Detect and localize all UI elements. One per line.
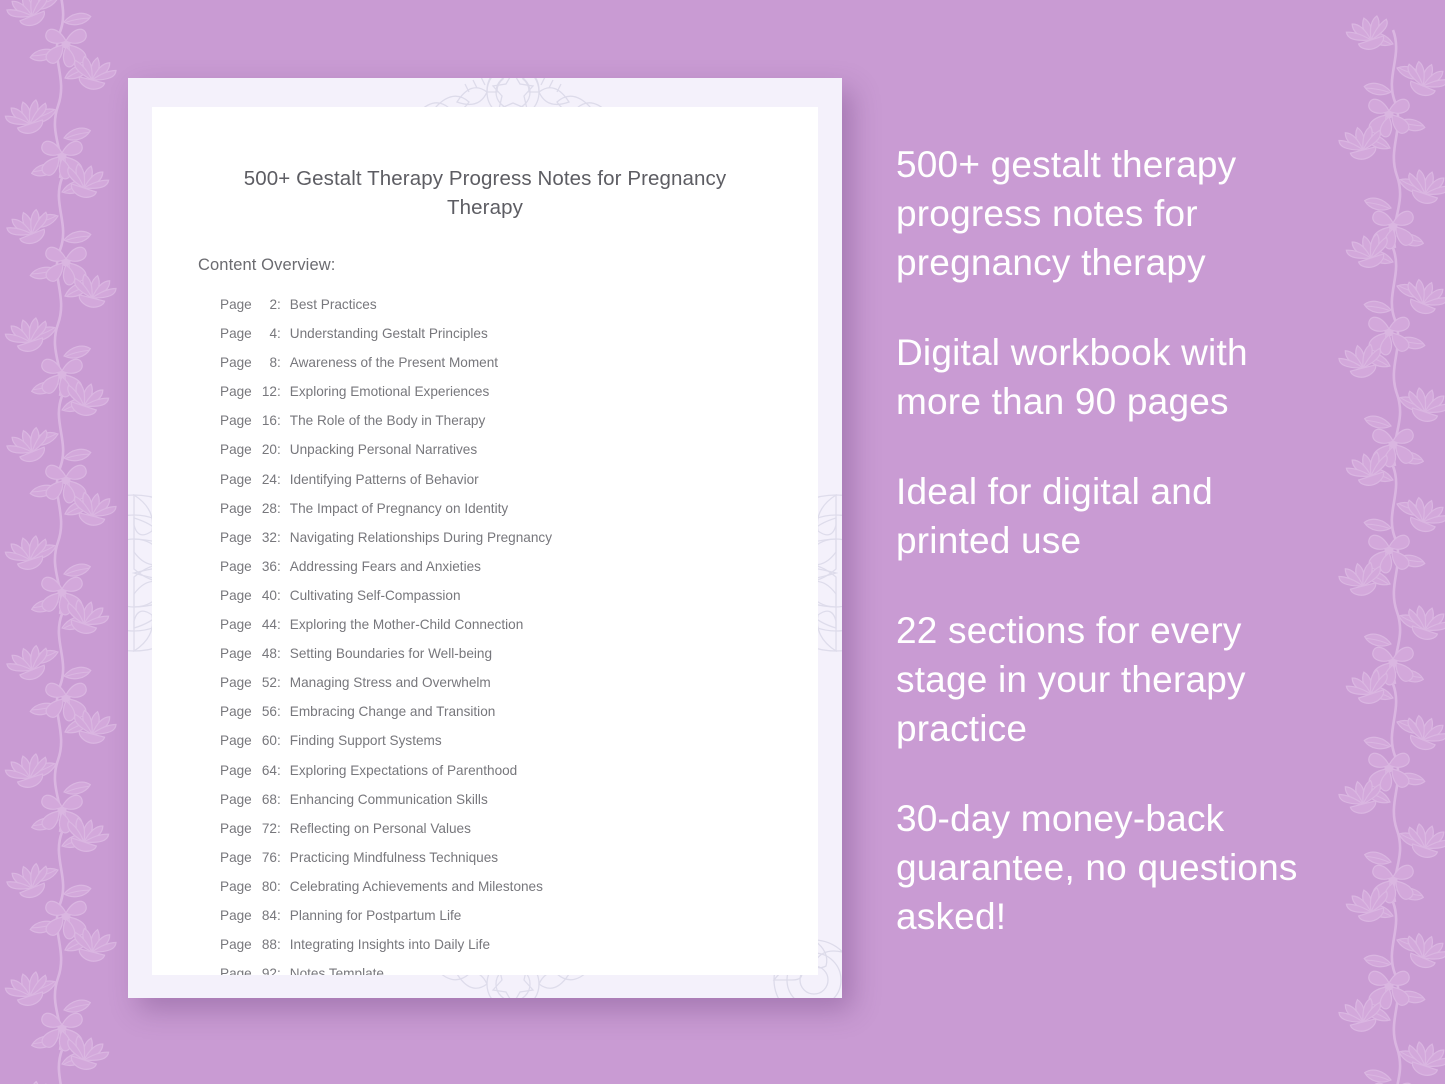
- toc-page-word: Page: [220, 668, 256, 697]
- toc-entry-title: Unpacking Personal Narratives: [290, 435, 477, 464]
- toc-entry-title: Managing Stress and Overwhelm: [290, 668, 491, 697]
- marketing-copy: 500+ gestalt therapy progress notes for …: [896, 140, 1326, 941]
- toc-entry-title: Understanding Gestalt Principles: [290, 319, 488, 348]
- toc-page-word: Page: [220, 930, 256, 959]
- toc-entry-title: Awareness of the Present Moment: [290, 348, 498, 377]
- toc-page-word: Page: [220, 435, 256, 464]
- toc-page-number: 88: [256, 930, 277, 959]
- toc-page-number: 20: [256, 435, 277, 464]
- toc-entry-title: Navigating Relationships During Pregnanc…: [290, 523, 552, 552]
- toc-page-word: Page: [220, 377, 256, 406]
- toc-colon: :: [277, 348, 290, 377]
- toc-page-word: Page: [220, 843, 256, 872]
- toc-entry-title: Celebrating Achievements and Milestones: [290, 872, 543, 901]
- toc-page-word: Page: [220, 639, 256, 668]
- toc-page-number: 4: [256, 319, 277, 348]
- toc-entry: Page52:Managing Stress and Overwhelm: [220, 668, 818, 697]
- toc-page-word: Page: [220, 348, 256, 377]
- toc-colon: :: [277, 552, 290, 581]
- toc-colon: :: [277, 901, 290, 930]
- toc-entry: Page68:Enhancing Communication Skills: [220, 785, 818, 814]
- toc-colon: :: [277, 697, 290, 726]
- toc-page-word: Page: [220, 872, 256, 901]
- toc-entry: Page88:Integrating Insights into Daily L…: [220, 930, 818, 959]
- toc-entry: Page28:The Impact of Pregnancy on Identi…: [220, 494, 818, 523]
- toc-entry: Page84:Planning for Postpartum Life: [220, 901, 818, 930]
- toc-page-number: 64: [256, 756, 277, 785]
- toc-entry-title: Addressing Fears and Anxieties: [290, 552, 481, 581]
- table-of-contents: Page2:Best PracticesPage4:Understanding …: [220, 290, 818, 975]
- toc-page-number: 80: [256, 872, 277, 901]
- toc-page-number: 92: [256, 959, 277, 975]
- toc-page-word: Page: [220, 494, 256, 523]
- toc-entry: Page72:Reflecting on Personal Values: [220, 814, 818, 843]
- toc-entry-title: Practicing Mindfulness Techniques: [290, 843, 498, 872]
- toc-entry: Page36:Addressing Fears and Anxieties: [220, 552, 818, 581]
- toc-colon: :: [277, 756, 290, 785]
- toc-page-number: 84: [256, 901, 277, 930]
- toc-colon: :: [277, 523, 290, 552]
- toc-entry: Page56:Embracing Change and Transition: [220, 697, 818, 726]
- toc-page-number: 28: [256, 494, 277, 523]
- toc-entry: Page24:Identifying Patterns of Behavior: [220, 465, 818, 494]
- toc-entry-title: Setting Boundaries for Well-being: [290, 639, 492, 668]
- toc-colon: :: [277, 465, 290, 494]
- toc-entry-title: Exploring Expectations of Parenthood: [290, 756, 517, 785]
- marketing-line: 500+ gestalt therapy progress notes for …: [896, 140, 1326, 287]
- toc-colon: :: [277, 814, 290, 843]
- toc-page-number: 48: [256, 639, 277, 668]
- marketing-line: Digital workbook with more than 90 pages: [896, 328, 1326, 426]
- toc-entry-title: Planning for Postpartum Life: [290, 901, 462, 930]
- toc-colon: :: [277, 581, 290, 610]
- toc-entry: Page48:Setting Boundaries for Well-being: [220, 639, 818, 668]
- toc-entry: Page76:Practicing Mindfulness Techniques: [220, 843, 818, 872]
- toc-page-number: 72: [256, 814, 277, 843]
- toc-page-word: Page: [220, 697, 256, 726]
- toc-page-number: 56: [256, 697, 277, 726]
- toc-page-number: 76: [256, 843, 277, 872]
- toc-entry: Page12:Exploring Emotional Experiences: [220, 377, 818, 406]
- toc-page-number: 52: [256, 668, 277, 697]
- toc-page-word: Page: [220, 552, 256, 581]
- toc-entry-title: Finding Support Systems: [290, 726, 442, 755]
- toc-page-number: 32: [256, 523, 277, 552]
- toc-colon: :: [277, 406, 290, 435]
- toc-entry-title: Enhancing Communication Skills: [290, 785, 488, 814]
- toc-entry-title: Exploring the Mother-Child Connection: [290, 610, 523, 639]
- toc-page-number: 16: [256, 406, 277, 435]
- toc-page-word: Page: [220, 465, 256, 494]
- toc-page-number: 2: [256, 290, 277, 319]
- toc-colon: :: [277, 872, 290, 901]
- toc-colon: :: [277, 726, 290, 755]
- floral-border-right: [1325, 0, 1445, 1084]
- toc-colon: :: [277, 668, 290, 697]
- floral-vine-icon: [1325, 0, 1445, 1084]
- toc-page-number: 12: [256, 377, 277, 406]
- floral-vine-icon: [0, 0, 130, 1084]
- content-overview-label: Content Overview:: [198, 256, 818, 275]
- toc-page-number: 8: [256, 348, 277, 377]
- toc-entry: Page20:Unpacking Personal Narratives: [220, 435, 818, 464]
- toc-page-word: Page: [220, 901, 256, 930]
- toc-colon: :: [277, 435, 290, 464]
- marketing-line: 22 sections for every stage in your ther…: [896, 606, 1326, 753]
- product-preview-card: 500+ Gestalt Therapy Progress Notes for …: [128, 78, 842, 998]
- toc-page-word: Page: [220, 523, 256, 552]
- toc-entry-title: The Role of the Body in Therapy: [290, 406, 485, 435]
- toc-page-word: Page: [220, 406, 256, 435]
- toc-page-word: Page: [220, 756, 256, 785]
- toc-page-word: Page: [220, 290, 256, 319]
- toc-page-word: Page: [220, 959, 256, 975]
- document-page: 500+ Gestalt Therapy Progress Notes for …: [152, 107, 818, 975]
- toc-entry: Page60:Finding Support Systems: [220, 726, 818, 755]
- toc-entry: Page32:Navigating Relationships During P…: [220, 523, 818, 552]
- toc-entry: Page16:The Role of the Body in Therapy: [220, 406, 818, 435]
- toc-entry-title: The Impact of Pregnancy on Identity: [290, 494, 508, 523]
- toc-entry: Page92:Notes Template: [220, 959, 818, 975]
- toc-page-word: Page: [220, 610, 256, 639]
- toc-entry: Page80:Celebrating Achievements and Mile…: [220, 872, 818, 901]
- toc-colon: :: [277, 930, 290, 959]
- toc-entry: Page4:Understanding Gestalt Principles: [220, 319, 818, 348]
- toc-colon: :: [277, 290, 290, 319]
- toc-entry-title: Integrating Insights into Daily Life: [290, 930, 490, 959]
- toc-entry-title: Reflecting on Personal Values: [290, 814, 471, 843]
- toc-page-word: Page: [220, 814, 256, 843]
- toc-colon: :: [277, 610, 290, 639]
- toc-page-number: 40: [256, 581, 277, 610]
- toc-colon: :: [277, 843, 290, 872]
- toc-colon: :: [277, 959, 290, 975]
- toc-entry: Page64:Exploring Expectations of Parenth…: [220, 756, 818, 785]
- toc-colon: :: [277, 377, 290, 406]
- floral-border-left: [0, 0, 130, 1084]
- toc-page-number: 60: [256, 726, 277, 755]
- page-title: 500+ Gestalt Therapy Progress Notes for …: [204, 164, 766, 222]
- toc-colon: :: [277, 785, 290, 814]
- toc-page-word: Page: [220, 726, 256, 755]
- toc-page-number: 44: [256, 610, 277, 639]
- toc-colon: :: [277, 494, 290, 523]
- toc-entry-title: Notes Template: [290, 959, 384, 975]
- toc-entry: Page2:Best Practices: [220, 290, 818, 319]
- toc-colon: :: [277, 319, 290, 348]
- toc-page-number: 68: [256, 785, 277, 814]
- toc-entry-title: Cultivating Self-Compassion: [290, 581, 461, 610]
- toc-page-word: Page: [220, 319, 256, 348]
- toc-entry: Page44:Exploring the Mother-Child Connec…: [220, 610, 818, 639]
- toc-page-word: Page: [220, 581, 256, 610]
- marketing-line: 30-day money-back guarantee, no question…: [896, 794, 1326, 941]
- toc-entry: Page8:Awareness of the Present Moment: [220, 348, 818, 377]
- toc-entry-title: Best Practices: [290, 290, 377, 319]
- toc-entry-title: Identifying Patterns of Behavior: [290, 465, 479, 494]
- toc-page-word: Page: [220, 785, 256, 814]
- toc-entry: Page40:Cultivating Self-Compassion: [220, 581, 818, 610]
- toc-colon: :: [277, 639, 290, 668]
- toc-entry-title: Exploring Emotional Experiences: [290, 377, 489, 406]
- toc-page-number: 36: [256, 552, 277, 581]
- toc-entry-title: Embracing Change and Transition: [290, 697, 496, 726]
- marketing-line: Ideal for digital and printed use: [896, 467, 1326, 565]
- toc-page-number: 24: [256, 465, 277, 494]
